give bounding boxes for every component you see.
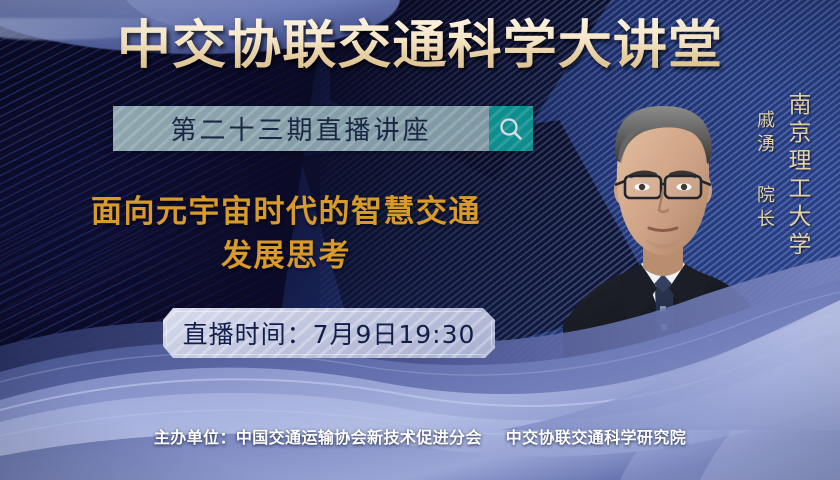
live-time-badge: 直播时间：7月9日19:30 — [163, 308, 495, 358]
live-time-label: 直播时间：7月9日19:30 — [183, 315, 476, 351]
session-bar: 第二十三期直播讲座 — [113, 106, 533, 151]
silk-ribbon-upper-right — [500, 300, 840, 430]
organizers-footer: 主办单位：中国交通运输协会新技术促进分会 中交协联交通科学研究院 — [0, 424, 840, 448]
speaker-name-title: 戚湧 院长 — [751, 110, 777, 233]
topic-title: 面向元宇宙时代的智慧交通 发展思考 — [26, 190, 546, 278]
speaker-affiliation: 南京理工大学 — [780, 92, 814, 260]
topic-title-line1: 面向元宇宙时代的智慧交通 — [91, 194, 481, 230]
search-icon — [498, 116, 524, 142]
webinar-poster: 中交协联交通科学大讲堂 第二十三期直播讲座 面向元宇宙时代的智慧交通 发展思考 … — [0, 0, 840, 480]
page-title: 中交协联交通科学大讲堂 — [0, 16, 840, 76]
topic-title-line2: 发展思考 — [26, 234, 546, 278]
search-button[interactable] — [489, 106, 533, 151]
session-label-container: 第二十三期直播讲座 — [113, 106, 489, 151]
session-label: 第二十三期直播讲座 — [170, 110, 431, 147]
